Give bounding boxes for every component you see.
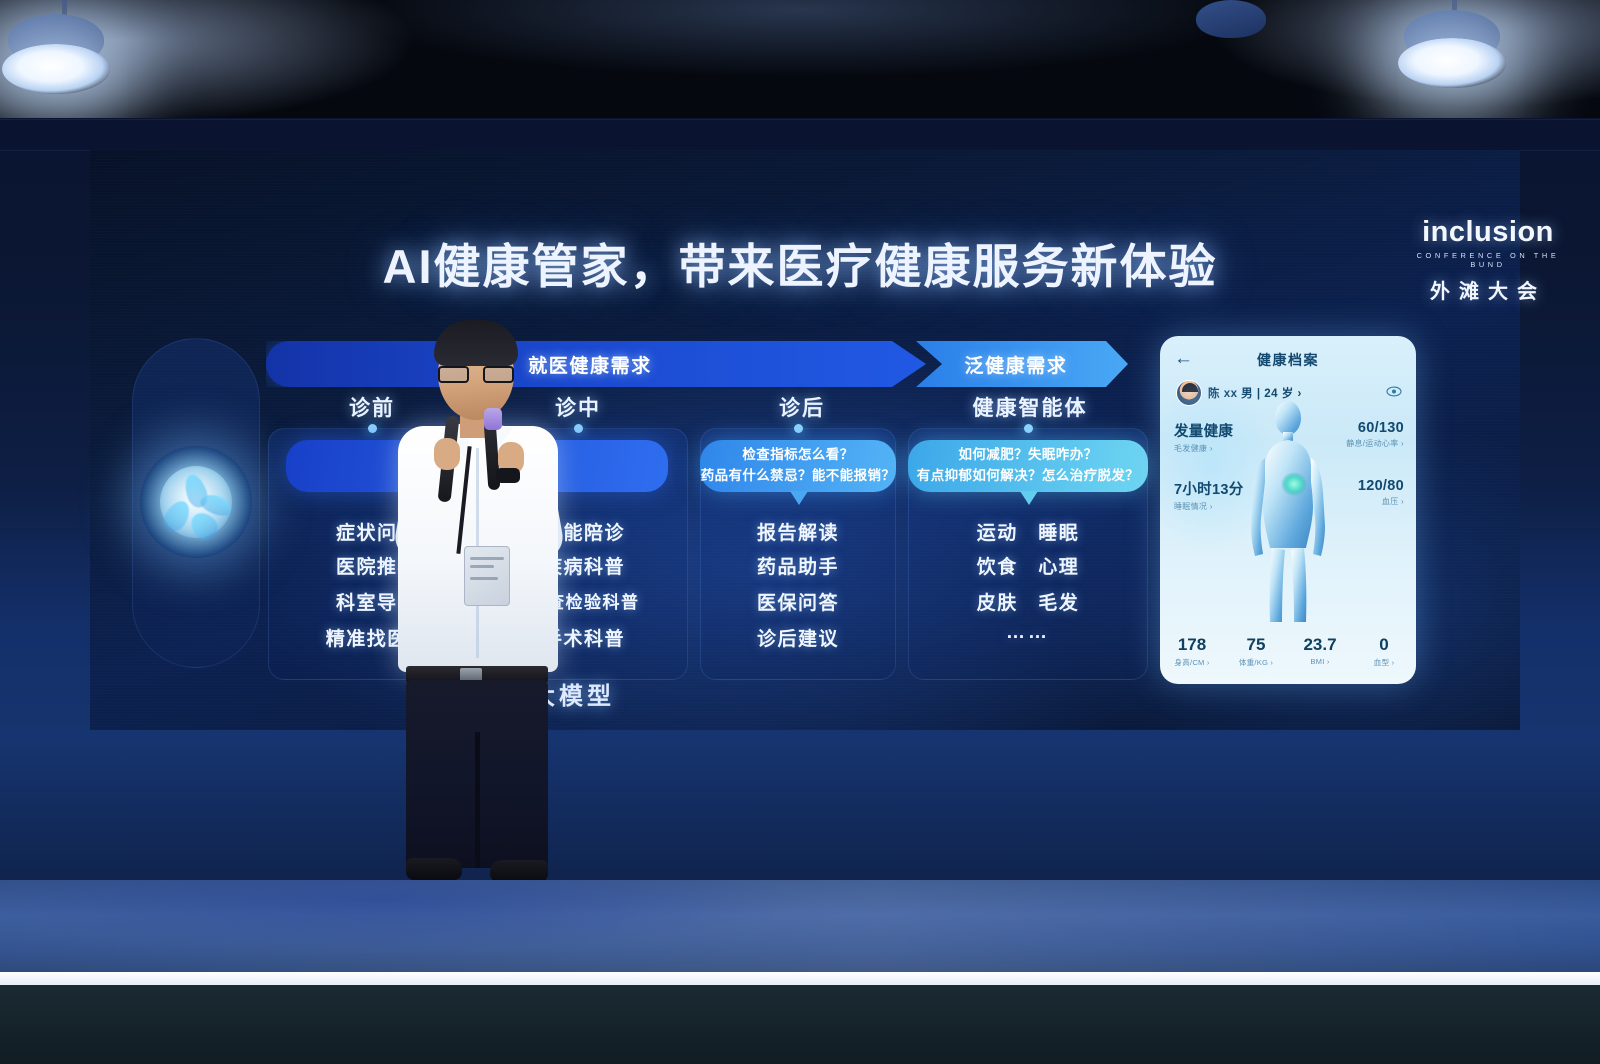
- feature-item: 运动 睡眠: [910, 518, 1146, 545]
- logo-wordmark: inclusion: [1398, 218, 1578, 247]
- ceiling-glow: [0, 0, 1600, 132]
- metric-heart-rate[interactable]: 60/130 静息/运动心率 ›: [1346, 420, 1404, 449]
- bubble-line: 如何减肥？失眠咋办？: [959, 445, 1098, 466]
- stat-weight[interactable]: 75 体重/KG ›: [1224, 635, 1288, 668]
- eye-icon[interactable]: [1386, 384, 1402, 395]
- stat-number: 0: [1352, 635, 1416, 655]
- feature-item: 诊后建议: [702, 624, 894, 651]
- metric-value: 60/130: [1346, 420, 1404, 436]
- question-bubble-3: 如何减肥？失眠咋办？ 有点抑郁如何解决？怎么治疗脱发？: [908, 440, 1148, 492]
- conference-logo: inclusion CONFERENCE ON THE BUND 外滩大会: [1398, 218, 1578, 304]
- body-stats-row: 178 身高/CM › 75 体重/KG › 23.7 BMI › 0 血型 ›: [1160, 635, 1416, 668]
- stat-caption: 体重/KG ›: [1224, 657, 1288, 668]
- flow-band-secondary-label: 泛健康需求: [964, 351, 1067, 378]
- feature-item: ……: [910, 622, 1146, 644]
- metric-hair-health[interactable]: 发量健康 毛发健康 ›: [1174, 420, 1233, 454]
- stat-caption: 身高/CM ›: [1160, 657, 1224, 668]
- metric-sleep[interactable]: 7小时13分 睡眠情况 ›: [1174, 478, 1244, 512]
- flow-band-primary: 就医健康需求: [266, 341, 926, 387]
- stat-blood-type[interactable]: 0 血型 ›: [1352, 635, 1416, 668]
- stage-scene: AI健康管家，带来医疗健康服务新体验 inclusion CONFERENCE …: [0, 0, 1600, 1064]
- wristwatch: [496, 468, 520, 483]
- speaker-badge: [464, 546, 510, 606]
- feature-item: 医保问答: [702, 588, 894, 615]
- human-body-3d-avatar: [1238, 398, 1338, 628]
- metric-label: 睡眠情况 ›: [1174, 501, 1244, 512]
- phone-screen-title: 健康档案: [1160, 350, 1416, 370]
- feature-item: 皮肤 毛发: [910, 588, 1146, 615]
- feature-item: 药品助手: [702, 552, 894, 579]
- metric-value: 发量健康: [1174, 420, 1233, 441]
- stat-number: 75: [1224, 635, 1288, 655]
- health-record-phone-mockup: ← 健康档案 陈 xx 男 | 24 岁 ›: [1160, 336, 1416, 684]
- feature-item: 报告解读: [702, 518, 894, 545]
- stat-height[interactable]: 178 身高/CM ›: [1160, 635, 1224, 668]
- stat-number: 178: [1160, 635, 1224, 655]
- logo-tagline: CONFERENCE ON THE BUND: [1398, 251, 1578, 269]
- logo-chinese-name: 外滩大会: [1398, 275, 1578, 304]
- stat-bmi[interactable]: 23.7 BMI ›: [1288, 635, 1352, 668]
- connector-dot: [574, 424, 583, 433]
- feature-item: 饮食 心理: [910, 552, 1146, 579]
- bubble-line: 有点抑郁如何解决？怎么治疗脱发？: [917, 466, 1139, 487]
- stat-caption: 血型 ›: [1352, 657, 1416, 668]
- question-bubble-2: 检查指标怎么看？ 药品有什么禁忌？能不能报销？: [700, 440, 896, 492]
- glasses-icon: [438, 366, 514, 383]
- connector-dot: [1024, 424, 1033, 433]
- bubble-line: 药品有什么禁忌？能不能报销？: [701, 466, 896, 487]
- stage-floor-reflection: [0, 880, 1600, 980]
- metric-value: 7小时13分: [1174, 478, 1244, 499]
- connector-dot: [368, 424, 377, 433]
- stat-number: 23.7: [1288, 635, 1352, 655]
- bubble-line: 检查指标怎么看？: [742, 445, 853, 466]
- stage-edge-strip: [0, 972, 1600, 985]
- connector-dot: [794, 424, 803, 433]
- stage-front-face: [0, 985, 1600, 1064]
- stat-caption: BMI ›: [1288, 657, 1352, 666]
- column-header-2: 诊后: [712, 392, 892, 422]
- metric-value: 120/80: [1358, 478, 1404, 494]
- speaker-presenter: [390, 320, 570, 910]
- metric-label: 毛发健康 ›: [1174, 443, 1233, 454]
- flow-band-secondary: 泛健康需求: [916, 341, 1128, 387]
- metric-label: 血压 ›: [1358, 496, 1404, 507]
- metric-blood-pressure[interactable]: 120/80 血压 ›: [1358, 478, 1404, 507]
- metric-label: 静息/运动心率 ›: [1346, 438, 1404, 449]
- column-header-3: 健康智能体: [910, 392, 1150, 422]
- slide-title: AI健康管家，带来医疗健康服务新体验: [0, 228, 1600, 297]
